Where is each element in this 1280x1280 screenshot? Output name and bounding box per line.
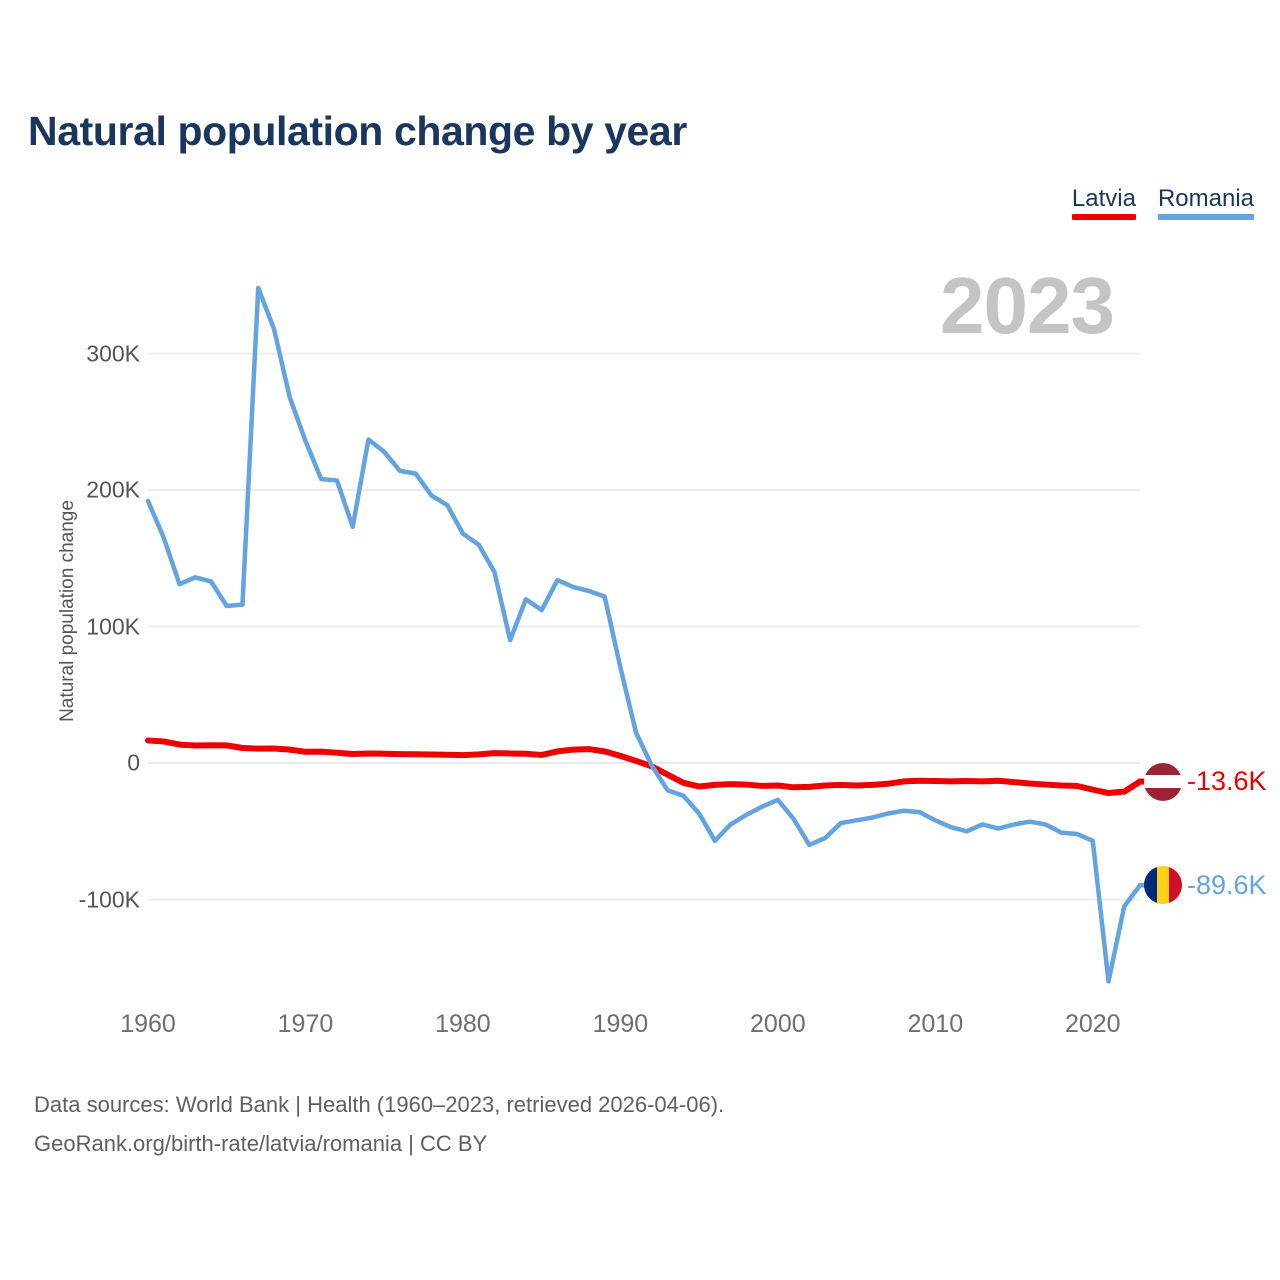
latvia-endpoint: -13.6K (1144, 763, 1267, 801)
romania-endpoint-value: -89.6K (1187, 870, 1267, 901)
romania-endpoint: -89.6K (1144, 866, 1267, 904)
chart-page: Natural population change by year Latvia… (0, 0, 1280, 1280)
flag-band (1144, 866, 1157, 904)
footer-line-attribution: GeoRank.org/birth-rate/latvia/romania | … (34, 1125, 724, 1164)
romania-flag-icon (1144, 866, 1182, 904)
flag-band (1144, 775, 1182, 788)
flag-band (1157, 866, 1170, 904)
series-line-romania (148, 288, 1140, 981)
latvia-endpoint-value: -13.6K (1187, 766, 1267, 797)
flag-band (1144, 788, 1182, 801)
flag-band (1169, 866, 1182, 904)
flag-band (1144, 763, 1182, 776)
latvia-flag-icon (1144, 763, 1182, 801)
footer: Data sources: World Bank | Health (1960–… (34, 1086, 724, 1163)
footer-line-sources: Data sources: World Bank | Health (1960–… (34, 1086, 724, 1125)
